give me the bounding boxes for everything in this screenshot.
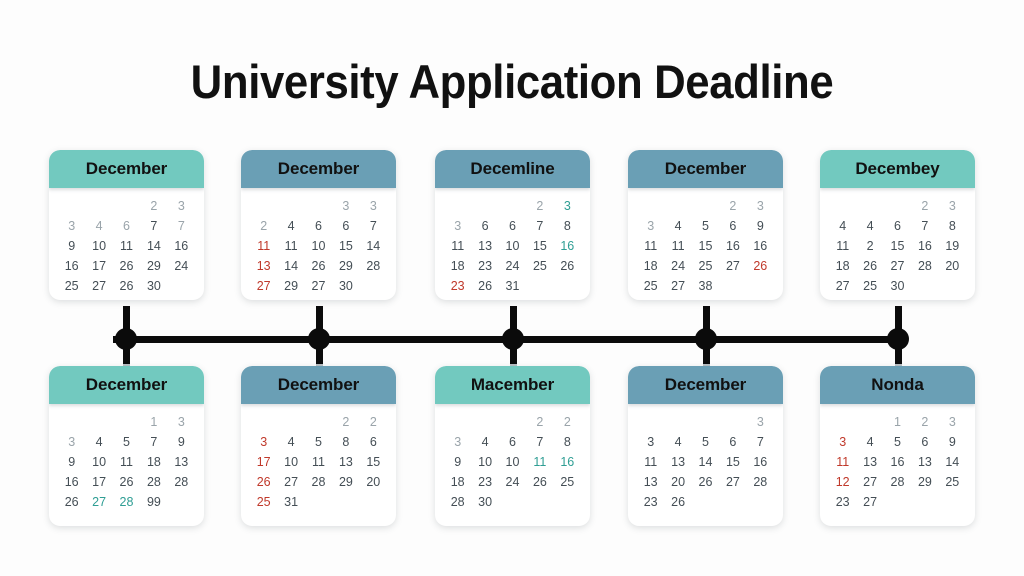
calendar-month-header: Nonda [820,366,975,404]
calendar-day[interactable]: 4 [664,434,691,451]
calendar-day-grid: 2334677910111416161726292425272630 [49,188,204,300]
calendar-day-empty [554,278,581,295]
calendar-day[interactable]: 27 [277,474,304,491]
calendar-day[interactable]: 14 [360,238,387,255]
calendar-day[interactable]: 13 [856,454,883,471]
calendar-day[interactable]: 24 [499,474,526,491]
calendar-day[interactable]: 15 [526,238,553,255]
calendar-day[interactable]: 7 [526,218,553,235]
calendar-day[interactable]: 8 [332,434,359,451]
calendar-day[interactable]: 11 [829,238,856,255]
calendar-day[interactable]: 10 [471,454,498,471]
calendar-day[interactable]: 4 [664,218,691,235]
calendar-month-header: Macember [435,366,590,404]
timeline-node-2[interactable] [308,328,330,350]
calendar-day[interactable]: 24 [664,258,691,275]
calendar-day[interactable]: 11 [113,454,140,471]
calendar-day-empty [526,278,553,295]
calendar-day[interactable]: 2 [554,414,581,431]
calendar-day-empty [664,414,691,431]
calendar-day[interactable]: 16 [168,238,195,255]
calendar-month-header: December [628,366,783,404]
calendar-day[interactable]: 20 [664,474,691,491]
calendar-day[interactable]: 7 [140,434,167,451]
calendar-day-empty [113,198,140,215]
calendar-day[interactable]: 2 [526,198,553,215]
calendar-day-empty [856,198,883,215]
calendar-day[interactable]: 11 [829,454,856,471]
calendar-day[interactable]: 16 [554,454,581,471]
calendar-day[interactable]: 27 [305,278,332,295]
calendar-day[interactable]: 23 [637,494,664,511]
calendar-day[interactable]: 3 [747,198,774,215]
calendar-day[interactable]: 7 [911,218,938,235]
calendar-day[interactable]: 2 [526,414,553,431]
calendar-day[interactable]: 25 [856,278,883,295]
calendar-day[interactable]: 13 [911,454,938,471]
calendar-day[interactable]: 18 [444,258,471,275]
calendar-day[interactable]: 8 [554,218,581,235]
calendar-day[interactable]: 4 [85,218,112,235]
calendar-day-empty [168,278,195,295]
calendar-day[interactable]: 3 [939,198,966,215]
calendar-day[interactable]: 10 [499,454,526,471]
calendar-month-header: December [49,150,204,188]
calendar-day[interactable]: 28 [747,474,774,491]
calendar-day[interactable]: 14 [692,454,719,471]
calendar-day-grid: 33246671111101514131426292827292730 [241,188,396,300]
timeline-stem-up-4 [703,306,710,342]
calendar-day-empty [829,198,856,215]
calendar-day[interactable]: 6 [499,218,526,235]
calendar-day[interactable]: 25 [692,258,719,275]
calendar-day[interactable]: 20 [939,258,966,275]
calendar-day[interactable]: 3 [58,434,85,451]
calendar-day[interactable]: 6 [471,218,498,235]
calendar-day[interactable]: 26 [58,494,85,511]
calendar-day[interactable]: 6 [360,434,387,451]
calendar-day[interactable]: 13 [332,454,359,471]
calendar-day[interactable]: 27 [719,474,746,491]
calendar-day[interactable]: 3 [360,198,387,215]
calendar-day-empty [829,414,856,431]
calendar-day[interactable]: 3 [58,218,85,235]
calendar-day-empty [692,414,719,431]
calendar-day[interactable]: 19 [939,238,966,255]
calendar-day[interactable]: 2 [250,218,277,235]
calendar-day-empty [747,278,774,295]
calendar-day[interactable]: 13 [637,474,664,491]
calendar-day[interactable]: 9 [168,434,195,451]
calendar-day[interactable]: 24 [168,258,195,275]
calendar-day[interactable]: 4 [85,434,112,451]
calendar-day[interactable]: 16 [884,454,911,471]
calendar-bottom-4[interactable]: December 334567111314151613202627282326 [628,366,783,526]
calendar-day-empty [471,198,498,215]
timeline-line [113,336,899,343]
calendar-day[interactable]: 30 [471,494,498,511]
calendar-day[interactable]: 3 [250,434,277,451]
calendar-day-empty [499,198,526,215]
calendar-day-empty [471,414,498,431]
calendar-day[interactable]: 23 [829,494,856,511]
calendar-day[interactable]: 28 [360,258,387,275]
calendar-day[interactable]: 8 [554,434,581,451]
calendar-day[interactable]: 17 [85,258,112,275]
calendar-day[interactable]: 28 [113,494,140,511]
calendar-top-4[interactable]: December 2334569111115161618242527262527… [628,150,783,300]
calendar-day[interactable]: 2 [911,414,938,431]
calendar-day[interactable]: 26 [250,474,277,491]
calendar-day[interactable]: 15 [692,238,719,255]
calendar-day[interactable]: 23 [471,258,498,275]
calendar-day[interactable]: 6 [719,434,746,451]
calendar-day[interactable]: 16 [719,238,746,255]
calendar-day[interactable]: 1 [140,414,167,431]
timeline-stem-up-2 [316,306,323,342]
calendar-day[interactable]: 30 [884,278,911,295]
calendar-day[interactable]: 26 [305,258,332,275]
calendar-day-empty [277,198,304,215]
calendar-day-empty [168,494,195,511]
calendar-day[interactable]: 25 [939,474,966,491]
calendar-day-grid: 233456911111516161824252726252738 [628,188,783,300]
calendar-day-empty [277,414,304,431]
calendar-day-empty [526,494,553,511]
calendar-day[interactable]: 7 [747,434,774,451]
calendar-day[interactable]: 23 [444,278,471,295]
calendar-day-empty [499,414,526,431]
calendar-day[interactable]: 31 [499,278,526,295]
calendar-day[interactable]: 26 [113,258,140,275]
calendar-month-header: December [241,366,396,404]
calendar-day[interactable]: 11 [305,454,332,471]
calendar-day[interactable]: 11 [637,238,664,255]
calendar-day-empty [250,198,277,215]
calendar-month-header: Decembey [820,150,975,188]
calendar-day[interactable]: 2 [140,198,167,215]
calendar-month-header: December [241,150,396,188]
calendar-day[interactable]: 6 [911,434,938,451]
calendar-day[interactable]: 16 [58,258,85,275]
calendar-top-2[interactable]: December 3324667111110151413142629282729… [241,150,396,300]
calendar-day[interactable]: 5 [113,434,140,451]
calendar-day[interactable]: 15 [332,238,359,255]
calendar-day[interactable]: 25 [637,278,664,295]
calendar-day[interactable]: 28 [911,258,938,275]
calendar-day[interactable]: 26 [471,278,498,295]
calendar-day[interactable]: 30 [332,278,359,295]
calendar-top-1[interactable]: December 2334677910111416161726292425272… [49,150,204,300]
calendar-day[interactable]: 13 [250,258,277,275]
calendar-day[interactable]: 2 [911,198,938,215]
calendar-day[interactable]: 13 [471,238,498,255]
calendar-day-empty [719,278,746,295]
calendar-day-empty [305,494,332,511]
calendar-day[interactable]: 14 [140,238,167,255]
calendar-day[interactable]: 3 [637,434,664,451]
calendar-day[interactable]: 30 [140,278,167,295]
calendar-day[interactable]: 13 [664,454,691,471]
calendar-top-3[interactable]: Decemline 233667811131015161823242526232… [435,150,590,300]
calendar-day[interactable]: 7 [526,434,553,451]
calendar-day[interactable]: 3 [747,414,774,431]
calendar-day[interactable]: 18 [829,258,856,275]
calendar-day-empty [747,494,774,511]
calendar-day-grid: 2234586171011131526272829202531 [241,404,396,519]
calendar-day[interactable]: 24 [499,258,526,275]
calendar-day[interactable]: 6 [499,434,526,451]
calendar-day[interactable]: 6 [719,218,746,235]
calendar-day-empty [911,494,938,511]
calendar-day[interactable]: 5 [305,434,332,451]
calendar-day[interactable]: 26 [664,494,691,511]
calendar-day[interactable]: 9 [939,434,966,451]
calendar-day[interactable]: 17 [250,454,277,471]
calendar-day[interactable]: 3 [444,218,471,235]
calendar-day[interactable]: 12 [829,474,856,491]
calendar-day-grid: 223467891010111618232426252830 [435,404,590,519]
calendar-bottom-5[interactable]: Nonda 12334569111316131412272829252327 [820,366,975,526]
calendar-day[interactable]: 31 [277,494,304,511]
calendar-day[interactable]: 9 [747,218,774,235]
calendar-month-header: December [49,366,204,404]
calendar-day[interactable]: 27 [85,494,112,511]
calendar-day[interactable]: 11 [444,238,471,255]
calendar-day-empty [499,494,526,511]
calendar-day[interactable]: 16 [747,454,774,471]
calendar-month-header: Decemline [435,150,590,188]
calendar-day[interactable]: 27 [829,278,856,295]
calendar-day[interactable]: 4 [277,434,304,451]
calendar-day-empty [360,278,387,295]
timeline-stem-up-3 [510,306,517,342]
calendar-day-empty [85,198,112,215]
calendar-day[interactable]: 8 [939,218,966,235]
calendar-bottom-1[interactable]: December 1334579910111813161726282826272… [49,366,204,526]
calendar-day[interactable]: 99 [140,494,167,511]
calendar-day[interactable]: 20 [360,474,387,491]
calendar-day-grid: 23446781121516191826272820272530 [820,188,975,300]
calendar-day[interactable]: 11 [250,238,277,255]
calendar-day-empty [554,494,581,511]
calendar-day[interactable]: 16 [911,238,938,255]
timeline-node-3[interactable] [502,328,524,350]
calendar-day[interactable]: 26 [554,258,581,275]
calendar-day-empty [664,198,691,215]
timeline-stem-up-5 [895,306,902,342]
calendar-day[interactable]: 3 [444,434,471,451]
calendar-day[interactable]: 4 [856,434,883,451]
calendar-day[interactable]: 29 [911,474,938,491]
calendar-day-empty [58,198,85,215]
calendar-day-empty [911,278,938,295]
calendar-day[interactable]: 29 [332,258,359,275]
calendar-day[interactable]: 10 [85,238,112,255]
calendar-day[interactable]: 10 [85,454,112,471]
calendar-day-empty [719,414,746,431]
calendar-day[interactable]: 14 [939,454,966,471]
calendar-day[interactable]: 2 [360,414,387,431]
page-title: University Application Deadline [36,54,988,109]
calendar-day[interactable]: 38 [692,278,719,295]
calendar-day[interactable]: 25 [250,494,277,511]
calendar-day[interactable]: 17 [85,474,112,491]
calendar-day-grid: 1334579910111813161726282826272899 [49,404,204,519]
calendar-day-empty [444,414,471,431]
calendar-day[interactable]: 9 [444,454,471,471]
calendar-day-empty [884,494,911,511]
calendar-day[interactable]: 3 [829,434,856,451]
calendar-day[interactable]: 5 [692,218,719,235]
calendar-top-5[interactable]: Decembey 2344678112151619182627282027253… [820,150,975,300]
timeline-stem-up-1 [123,306,130,342]
calendar-day[interactable]: 11 [526,454,553,471]
calendar-day[interactable]: 14 [277,258,304,275]
calendar-day[interactable]: 6 [884,218,911,235]
calendar-day[interactable]: 27 [250,278,277,295]
calendar-day[interactable]: 26 [526,474,553,491]
calendar-day[interactable]: 4 [856,218,883,235]
calendar-day[interactable]: 3 [939,414,966,431]
calendar-day[interactable]: 7 [360,218,387,235]
calendar-day[interactable]: 27 [884,258,911,275]
calendar-day[interactable]: 26 [113,278,140,295]
calendar-day-grid: 334567111314151613202627282326 [628,404,783,519]
calendar-day-empty [939,278,966,295]
calendar-day[interactable]: 26 [692,474,719,491]
calendar-day[interactable]: 28 [168,474,195,491]
calendar-day-empty [884,198,911,215]
calendar-day[interactable]: 25 [526,258,553,275]
calendar-day[interactable]: 15 [884,238,911,255]
calendar-day[interactable]: 29 [140,258,167,275]
calendar-day[interactable]: 3 [168,414,195,431]
calendar-day-empty [444,198,471,215]
calendar-day[interactable]: 6 [332,218,359,235]
calendar-day[interactable]: 27 [85,278,112,295]
calendar-day-empty [939,494,966,511]
calendar-day-empty [719,494,746,511]
calendar-day[interactable]: 3 [554,198,581,215]
calendar-month-header: December [628,150,783,188]
calendar-day-empty [305,198,332,215]
calendar-day[interactable]: 11 [277,238,304,255]
calendar-day[interactable]: 4 [471,434,498,451]
calendar-day-empty [692,494,719,511]
calendar-day[interactable]: 5 [692,434,719,451]
calendar-day[interactable]: 7 [140,218,167,235]
calendar-day[interactable]: 9 [58,454,85,471]
calendar-day[interactable]: 16 [747,238,774,255]
calendar-day[interactable]: 26 [747,258,774,275]
calendar-day[interactable]: 18 [444,474,471,491]
calendar-day-empty [360,494,387,511]
calendar-day[interactable]: 5 [884,434,911,451]
calendar-day[interactable]: 18 [140,454,167,471]
calendar-day[interactable]: 3 [637,218,664,235]
calendar-day[interactable]: 9 [58,238,85,255]
calendar-day-empty [332,494,359,511]
calendar-day[interactable]: 10 [499,238,526,255]
calendar-bottom-3[interactable]: Macember 223467891010111618232426252830 [435,366,590,526]
calendar-day[interactable]: 28 [444,494,471,511]
calendar-day[interactable]: 26 [856,258,883,275]
calendar-day[interactable]: 29 [332,474,359,491]
calendar-day[interactable]: 6 [305,218,332,235]
calendar-day[interactable]: 7 [168,218,195,235]
calendar-day[interactable]: 27 [664,278,691,295]
calendar-day-empty [637,198,664,215]
calendar-day-empty [692,198,719,215]
calendar-day[interactable]: 27 [856,474,883,491]
calendar-day-empty [305,414,332,431]
calendar-day-grid: 233667811131015161823242526232631 [435,188,590,300]
calendar-day[interactable]: 4 [829,218,856,235]
calendar-day[interactable]: 6 [113,218,140,235]
calendar-day[interactable]: 16 [58,474,85,491]
calendar-day[interactable]: 27 [719,258,746,275]
timeline-node-1[interactable] [115,328,137,350]
calendar-day[interactable]: 3 [332,198,359,215]
calendar-day[interactable]: 1 [884,414,911,431]
calendar-day[interactable]: 15 [719,454,746,471]
timeline-node-4[interactable] [695,328,717,350]
calendar-day[interactable]: 2 [332,414,359,431]
calendar-day[interactable]: 16 [554,238,581,255]
calendar-day[interactable]: 10 [277,454,304,471]
calendar-day[interactable]: 25 [58,278,85,295]
calendar-day[interactable]: 15 [360,454,387,471]
calendar-bottom-2[interactable]: December 2234586171011131526272829202531 [241,366,396,526]
calendar-day[interactable]: 2 [719,198,746,215]
calendar-day[interactable]: 11 [664,238,691,255]
calendar-day[interactable]: 25 [554,474,581,491]
calendar-day[interactable]: 4 [277,218,304,235]
calendar-day-empty [58,414,85,431]
calendar-day[interactable]: 18 [637,258,664,275]
calendar-day-empty [856,414,883,431]
calendar-day[interactable]: 2 [856,238,883,255]
calendar-day[interactable]: 28 [884,474,911,491]
calendar-day[interactable]: 23 [471,474,498,491]
calendar-day[interactable]: 13 [168,454,195,471]
calendar-day-empty [250,414,277,431]
calendar-day[interactable]: 10 [305,238,332,255]
calendar-day-grid: 12334569111316131412272829252327 [820,404,975,519]
timeline-node-5[interactable] [887,328,909,350]
calendar-day[interactable]: 27 [856,494,883,511]
calendar-day-empty [637,414,664,431]
calendar-day[interactable]: 26 [113,474,140,491]
calendar-day[interactable]: 11 [637,454,664,471]
calendar-day-empty [85,414,112,431]
calendar-day-empty [113,414,140,431]
calendar-day[interactable]: 29 [277,278,304,295]
calendar-day[interactable]: 11 [113,238,140,255]
calendar-day[interactable]: 28 [305,474,332,491]
calendar-day[interactable]: 3 [168,198,195,215]
calendar-day[interactable]: 28 [140,474,167,491]
